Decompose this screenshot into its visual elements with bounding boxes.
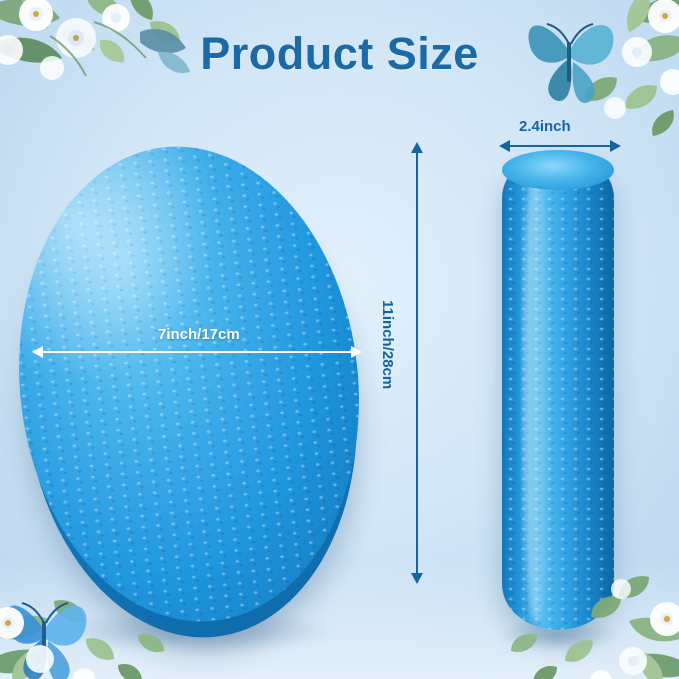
balance-cushion [16, 128, 376, 648]
product-size-image: Product Size 7inch/17cm 11inch/28cm [0, 0, 679, 679]
arrow-head-right-icon [610, 140, 621, 152]
thickness-dimension-label: 2.4inch [519, 118, 571, 135]
thickness-dimension-arrow [499, 138, 621, 154]
arrow-line [40, 351, 354, 353]
arrow-line [416, 150, 418, 576]
foam-roller [494, 152, 624, 642]
roller-dimple-texture [502, 152, 614, 630]
arrow-head-down-icon [411, 573, 423, 584]
roller-body [502, 152, 614, 630]
width-dimension-arrow [32, 344, 362, 360]
roller-top-cap [502, 150, 614, 190]
page-title: Product Size [0, 28, 679, 80]
height-dimension-label: 11inch/28cm [379, 300, 396, 389]
arrow-head-right-icon [351, 346, 362, 358]
width-dimension-label: 7inch/17cm [158, 326, 240, 343]
height-dimension-arrow [409, 142, 425, 584]
arrow-line [507, 145, 613, 147]
roller-highlight [524, 162, 549, 621]
cushion-top-surface [0, 130, 382, 639]
